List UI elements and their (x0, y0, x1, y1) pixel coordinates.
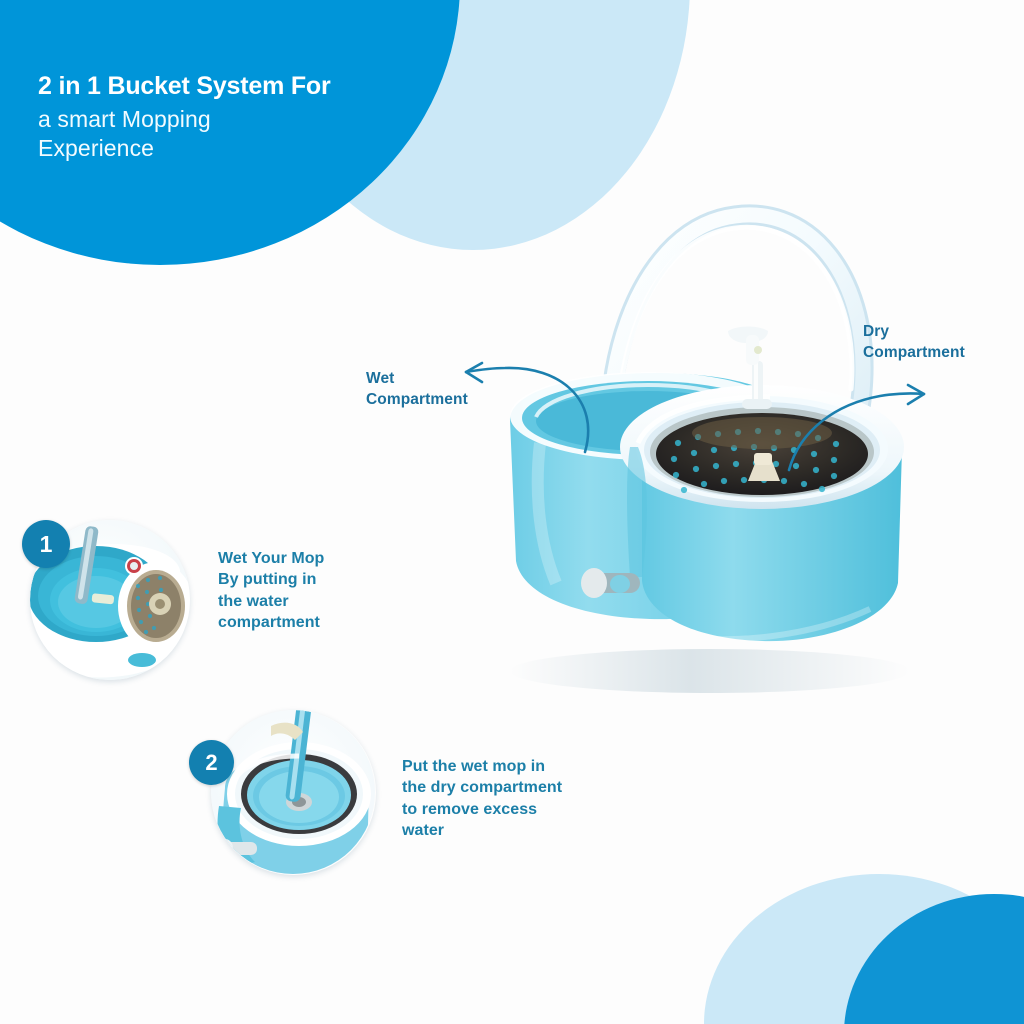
step-2: 2 Put the wet mop in the dry compartment… (185, 702, 635, 882)
callout-wet-line2: Compartment (366, 389, 516, 410)
step-1-text: Wet Your Mop By putting in the water com… (218, 548, 393, 633)
callout-wet-line1: Wet (366, 368, 516, 389)
product-image-spin-mop-bucket (470, 185, 940, 705)
step-1-text-line2: By putting in (218, 569, 393, 590)
step-1: 1 Wet Your Mop By putting in the water c… (22, 508, 382, 688)
step-2-text-line3: to remove excess (402, 799, 622, 820)
page-title-line1: 2 in 1 Bucket System For (38, 72, 458, 102)
callout-dry-compartment: Dry Compartment (863, 321, 1023, 364)
step-2-photo (211, 710, 376, 875)
dry-compartment (620, 385, 904, 641)
step-2-text: Put the wet mop in the dry compartment t… (402, 756, 622, 841)
callout-dry-line2: Compartment (863, 342, 1023, 363)
header: 2 in 1 Bucket System For a smart Mopping… (38, 72, 458, 163)
step-1-text-line3: the water (218, 591, 393, 612)
page-title-line2: a smart Mopping (38, 105, 458, 134)
step-1-number-badge: 1 (22, 520, 70, 568)
step-1-text-line4: compartment (218, 612, 393, 633)
callout-wet-compartment: Wet Compartment (366, 368, 516, 411)
step-2-number-badge: 2 (189, 740, 234, 785)
page-title-line3: Experience (38, 134, 458, 163)
step-2-text-line4: water (402, 820, 622, 841)
callout-dry-line1: Dry (863, 321, 1023, 342)
step-1-text-line1: Wet Your Mop (218, 548, 393, 569)
step-2-text-line2: the dry compartment (402, 777, 622, 798)
infographic-canvas: 2 in 1 Bucket System For a smart Mopping… (0, 0, 1024, 1024)
step-2-text-line1: Put the wet mop in (402, 756, 622, 777)
